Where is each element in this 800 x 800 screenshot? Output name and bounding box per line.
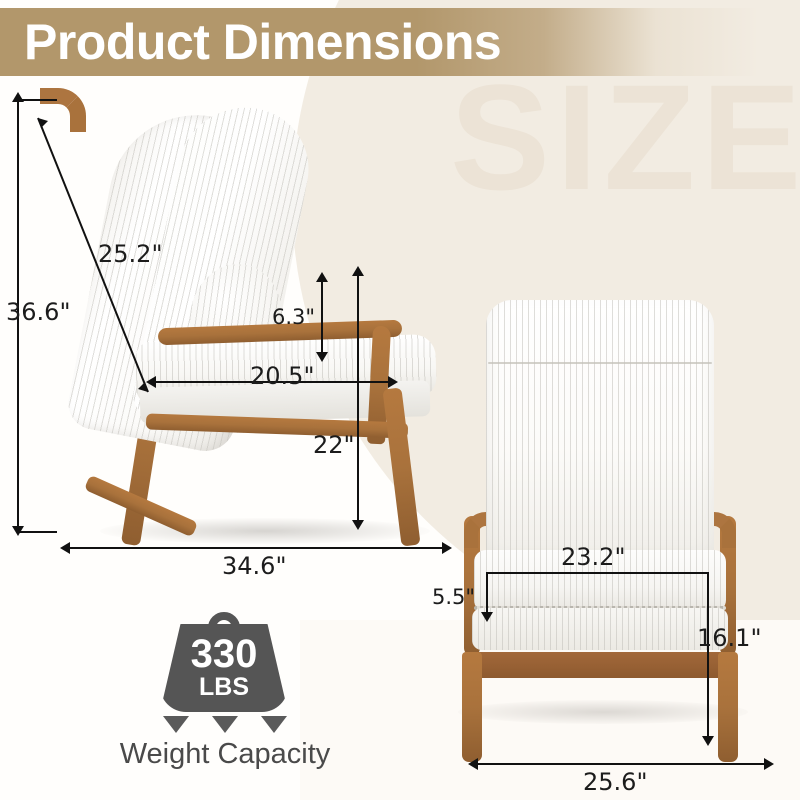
front-leg-left bbox=[462, 652, 482, 762]
weight-capacity-label: Weight Capacity bbox=[100, 738, 350, 771]
cushion-thickness-line bbox=[486, 574, 488, 616]
header-banner: Product Dimensions bbox=[0, 8, 800, 76]
chair-armrest-curve bbox=[40, 88, 86, 132]
width-line bbox=[476, 763, 768, 765]
dimension-seat-height: 16.1" bbox=[697, 624, 761, 652]
arm-height-arrow-bottom bbox=[352, 520, 364, 530]
chair-side-shadow bbox=[100, 518, 430, 544]
product-dimensions-infographic: SIZE Product Dimensions 36.6" bbox=[0, 0, 800, 800]
seat-height-arrow bbox=[702, 736, 714, 746]
weight-capacity-block: 330 LBS Weight Capacity bbox=[100, 612, 350, 782]
page-title: Product Dimensions bbox=[24, 14, 501, 70]
chair-front-shadow bbox=[458, 700, 748, 724]
dimension-seat-width: 23.2" bbox=[561, 543, 625, 571]
front-backrest-rib-texture bbox=[486, 300, 714, 568]
depth-line bbox=[68, 547, 446, 549]
width-arrow-right bbox=[764, 758, 774, 770]
front-backrest bbox=[486, 300, 714, 568]
dimension-arm-height: 22" bbox=[313, 431, 355, 459]
chair-side-view-illustration bbox=[40, 88, 440, 538]
down-arrow-icon-3 bbox=[261, 716, 287, 733]
down-arrow-icon-2 bbox=[212, 716, 238, 733]
dimension-overall-depth: 34.6" bbox=[222, 552, 286, 580]
front-cross-rail bbox=[468, 652, 732, 678]
arm-gap-arrow-bottom bbox=[316, 352, 328, 362]
front-backrest-seam bbox=[488, 362, 712, 364]
seat-depth-arrow-right bbox=[388, 376, 398, 388]
size-watermark: SIZE bbox=[450, 62, 800, 212]
weight-value: 330 bbox=[160, 634, 288, 674]
dimension-overall-width: 25.6" bbox=[583, 768, 647, 796]
seat-width-line bbox=[486, 572, 708, 574]
dimension-cushion-thickness: 5.5" bbox=[432, 585, 475, 609]
chair-front-view-illustration bbox=[448, 300, 758, 750]
weight-unit: LBS bbox=[160, 674, 288, 700]
height-tick-top bbox=[17, 99, 57, 101]
dimension-arm-gap: 6.3" bbox=[272, 305, 315, 329]
dimension-seat-depth: 20.5" bbox=[250, 362, 314, 390]
front-seat-base-rib-texture bbox=[472, 608, 728, 650]
dimension-overall-height: 36.6" bbox=[6, 298, 70, 326]
front-leg-right bbox=[718, 652, 738, 762]
dimension-backrest-height: 25.2" bbox=[98, 240, 162, 268]
cushion-thickness-arrow bbox=[481, 612, 493, 622]
arm-height-line bbox=[357, 274, 359, 524]
arm-gap-line bbox=[321, 280, 323, 356]
height-tick-bottom bbox=[17, 531, 57, 533]
down-arrow-icon-1 bbox=[163, 716, 189, 733]
front-seat-base bbox=[472, 608, 728, 650]
seat-height-line bbox=[707, 572, 709, 740]
